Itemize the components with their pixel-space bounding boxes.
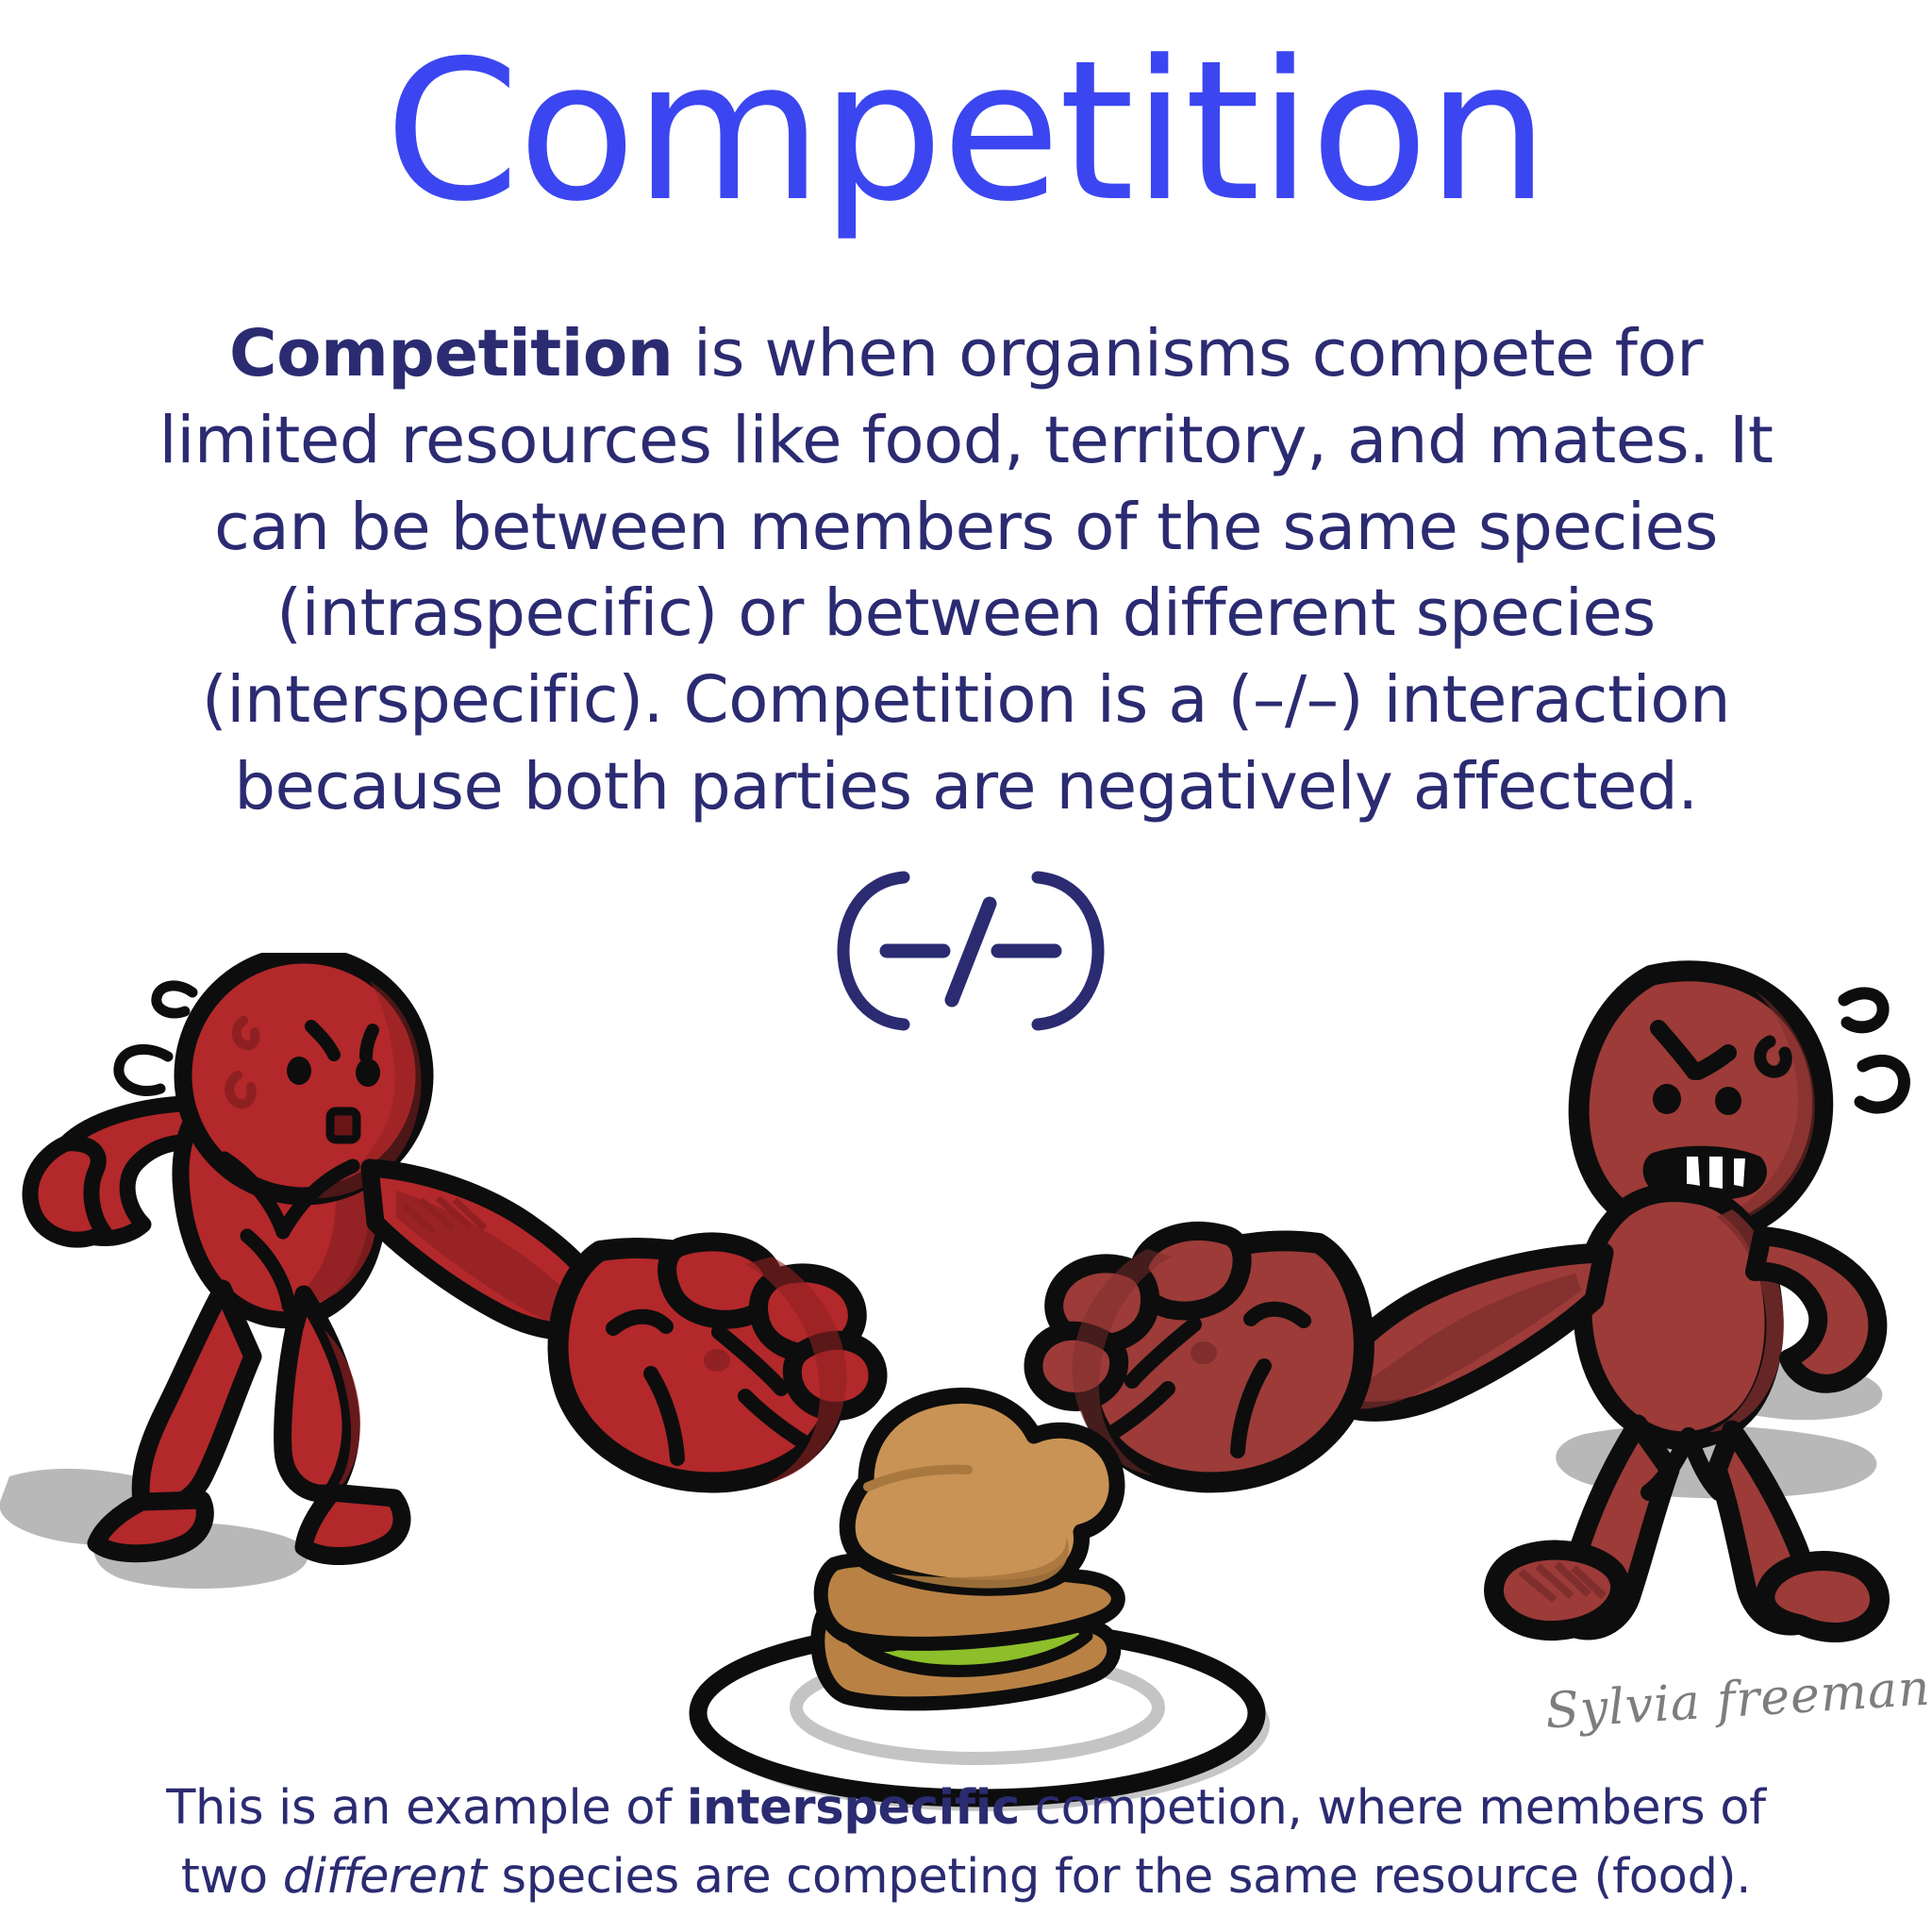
right-motion-marks-icon	[1844, 993, 1904, 1108]
caption-part-3: species are competing for the same resou…	[487, 1849, 1752, 1905]
left-front-foot	[304, 1492, 402, 1557]
infographic-page: Competition Competition is when organism…	[0, 0, 1932, 1932]
caption-text: This is an example of interspecific comp…	[142, 1774, 1790, 1911]
sandwich-top-bread	[847, 1395, 1117, 1588]
caption-italic-different: different	[283, 1849, 487, 1905]
left-back-fist	[30, 1143, 104, 1240]
definition-term: Competition	[229, 316, 673, 391]
left-big-fist	[558, 1241, 878, 1483]
right-red-creature	[1033, 971, 1904, 1632]
definition-paragraph: Competition is when organisms compete fo…	[142, 311, 1790, 831]
page-title: Competition	[0, 36, 1932, 229]
caption-part-1: This is an example of	[166, 1780, 687, 1836]
left-front-leg	[283, 1294, 351, 1493]
caption-bold-interspecific: interspecific	[687, 1780, 1020, 1836]
left-red-creature	[30, 955, 878, 1557]
definition-body: is when organisms compete for limited re…	[159, 316, 1774, 824]
left-back-leg	[141, 1289, 253, 1507]
right-back-shoe	[1765, 1561, 1880, 1633]
